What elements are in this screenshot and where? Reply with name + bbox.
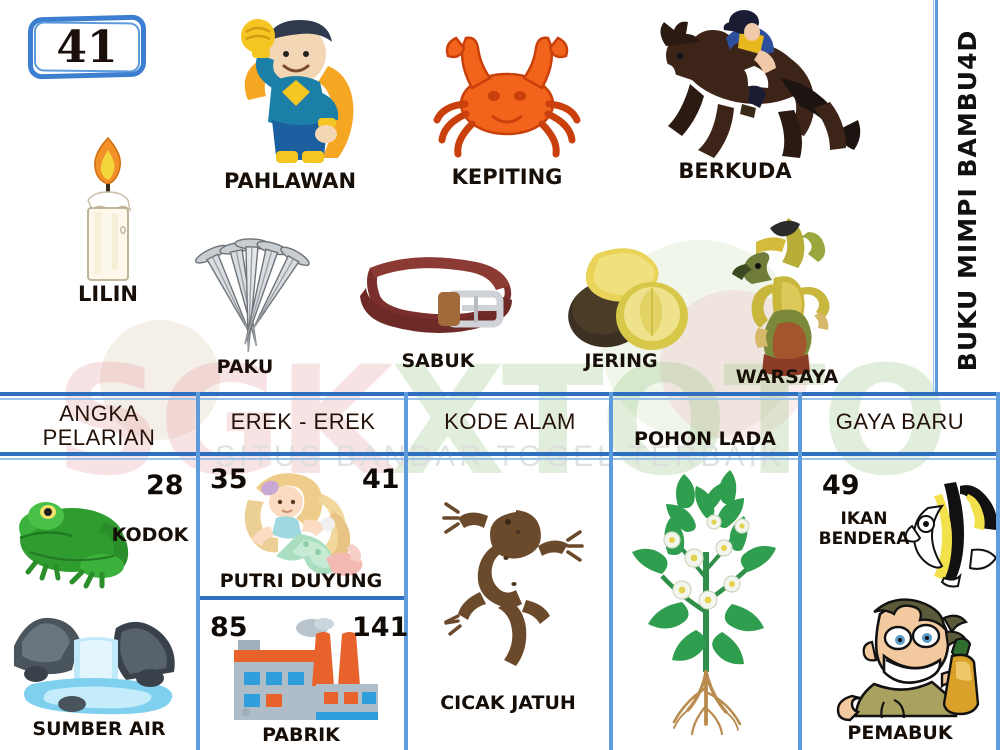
grid-col-divider-5 xyxy=(996,392,1000,750)
label-putri-duyung: PUTRI DUYUNG xyxy=(198,570,404,592)
caption-berkuda: BERKUDA xyxy=(640,160,830,182)
label-ikan-bendera-line1: IKAN xyxy=(806,510,922,530)
gecko-icon xyxy=(418,488,602,668)
label-kodok: KODOK xyxy=(104,524,196,546)
number-pabrik-right: 141 xyxy=(352,612,408,643)
crab-icon xyxy=(432,18,582,158)
caption-sabuk: SABUK xyxy=(368,352,508,372)
column-header-gaya-baru: GAYA BARU xyxy=(804,410,996,434)
nails-icon xyxy=(172,236,322,364)
brand-text: BUKU MIMPI BAMBU4D xyxy=(954,29,983,370)
number-kodok: 28 xyxy=(146,470,184,501)
label-sumber-air: SUMBER AIR xyxy=(6,718,192,740)
grid-line-header-bottom xyxy=(0,452,1000,456)
column-header-erek-erek: EREK - EREK xyxy=(200,410,406,434)
page-number: 41 xyxy=(28,16,146,78)
column-header-line1: KODE ALAM xyxy=(412,410,608,434)
label-pemabuk: PEMABUK xyxy=(804,722,996,744)
drunk-man-icon xyxy=(828,600,988,728)
number-putri-duyung-right: 41 xyxy=(362,464,400,495)
label-pabrik: PABRIK xyxy=(198,724,404,746)
grid-line-top-light xyxy=(0,398,1000,400)
label-ikan-bendera-line2: BENDERA xyxy=(806,530,922,550)
column-header-line1: ANGKA xyxy=(4,402,194,426)
grid-line-top xyxy=(0,392,1000,396)
candle-icon xyxy=(66,130,150,280)
label-cicak-jatuh: CICAK JATUH xyxy=(408,692,608,714)
jengkol-fruit-icon xyxy=(548,240,694,358)
column-header-line2: PELARIAN xyxy=(4,426,194,450)
column-header-kode-alam: KODE ALAM xyxy=(412,410,608,434)
caption-paku: PAKU xyxy=(180,358,310,378)
column-header-line1: GAYA BARU xyxy=(804,410,996,434)
grid-line-erek-split xyxy=(197,596,407,600)
column-header-line1: EREK - EREK xyxy=(200,410,406,434)
grid-line-header-bottom-light xyxy=(0,458,1000,460)
number-ikan-bendera: 49 xyxy=(822,470,860,501)
caption-lilin: LILIN xyxy=(58,283,158,305)
belt-icon xyxy=(352,244,532,354)
pepper-plant-icon xyxy=(616,462,796,748)
label-pohon-lada: POHON LADA xyxy=(610,428,800,450)
superhero-icon xyxy=(210,8,370,168)
number-putri-duyung-left: 35 xyxy=(210,464,248,495)
caption-pahlawan: PAHLAWAN xyxy=(210,170,370,192)
horse-rider-icon xyxy=(628,8,858,168)
caption-warsaya: WARSAYA xyxy=(712,368,862,388)
caption-kepiting: KEPITING xyxy=(427,166,587,188)
brand-divider-light xyxy=(933,0,934,392)
number-pabrik-left: 85 xyxy=(210,612,248,643)
grid-line-pohonlada-top xyxy=(610,392,800,396)
wayang-puppet-icon xyxy=(712,212,852,378)
label-ikan-bendera: IKAN BENDERA xyxy=(806,510,922,549)
waterfall-icon xyxy=(10,608,186,720)
column-header-angka-pelarian: ANGKA PELARIAN xyxy=(4,402,194,450)
page-number-badge: 41 xyxy=(28,16,146,78)
brand-label: BUKU MIMPI BAMBU4D xyxy=(938,10,998,390)
dream-book-page: SGKXTOTO SITUS BANDAR TOGEL TERBAIK 41 B… xyxy=(0,0,1000,750)
caption-jering: JERING xyxy=(548,352,694,372)
